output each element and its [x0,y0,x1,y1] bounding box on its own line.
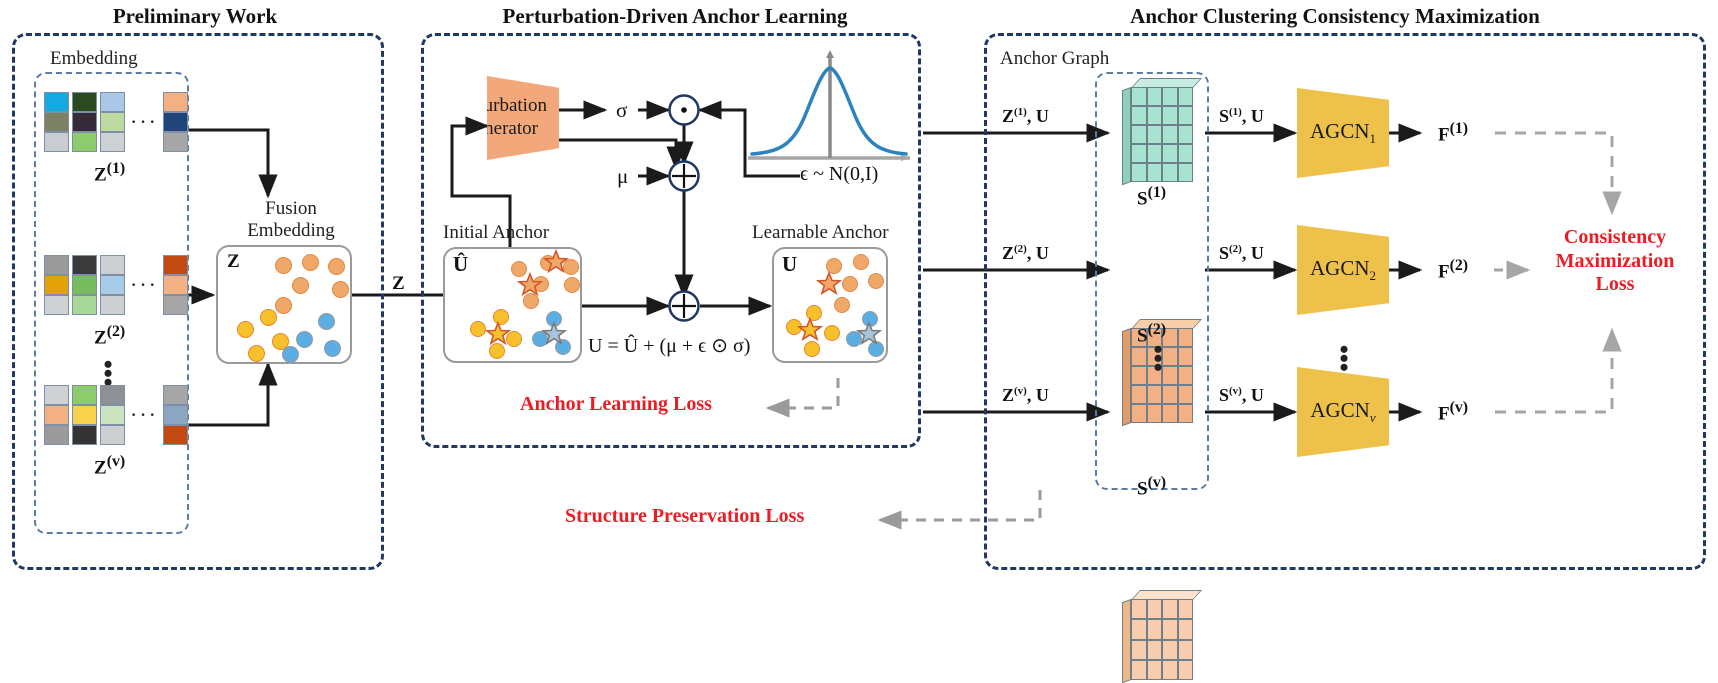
matrix-z2-collast [163,255,188,315]
agcn-block-1: AGCN1 [1297,88,1389,178]
agcn-2-label: AGCN [1310,256,1370,280]
panel-title-perturbation: Perturbation-Driven Anchor Learning [425,4,925,29]
initial-anchor-label: Initial Anchor [443,222,549,244]
edge-label-zv-u: Z(v), U [1002,385,1049,406]
matrix-z1-col2 [100,92,125,152]
perturbation-generator-block: Perturbation Generator [487,76,559,160]
matrix-z1-ellipsis: ··· [130,92,158,152]
matrix-z2: ··· [44,255,188,315]
matrix-z1: ··· [44,92,188,152]
embedding-vertical-ellipsis: ••• [96,360,120,387]
anchor-matrix-sv [1122,590,1196,680]
matrix-zv-collast [163,385,188,445]
agcn-2-sub: 2 [1370,268,1377,283]
matrix-zv-col1 [72,385,97,445]
sigma-symbol: σ [616,98,627,123]
matrix-z2-col1 [72,255,97,315]
output-fv: F(v) [1438,399,1468,425]
learnable-anchor-box: U [772,247,888,363]
anchor-star-orange-1 [543,249,569,275]
learnable-star-yellow-1 [797,317,823,343]
edge-label-s1-u: S(1), U [1219,106,1264,127]
learnable-anchor-label: Learnable Anchor [752,222,889,244]
output-f1: F(1) [1438,120,1468,146]
anchor-star-blue-1 [541,321,567,347]
matrix-z2-col0 [44,255,69,315]
edge-label-sv-u: S(v), U [1219,385,1264,406]
matrix-z1-collast [163,92,188,152]
learnable-anchor-tag: U [782,252,797,277]
embedding-group-label: Embedding [50,48,138,70]
fusion-output-tag-z: Z [392,273,405,295]
agcn-block-2: AGCN2 [1297,225,1389,315]
panel-title-preliminary: Preliminary Work [10,4,380,29]
panel-title-clustering: Anchor Clustering Consistency Maximizati… [985,4,1685,29]
agcn-v-sub: v [1370,410,1376,425]
anchor-update-formula: U = Û + (μ + ϵ ⊙ σ) [588,333,750,358]
edge-label-z1-u: Z(1), U [1002,106,1049,127]
anchor-star-orange-2 [517,272,543,298]
fusion-embedding-box: Z [216,245,352,364]
matrix-z1-label: Z(1) [94,160,125,186]
matrix-z2-ellipsis: ··· [130,255,158,315]
consistency-loss-label: Consistency Maximization Loss [1530,226,1700,297]
initial-anchor-box: Û [443,247,582,363]
anchor-matrix-s1 [1122,78,1196,182]
agcn-1-label: AGCN [1310,119,1370,143]
consistency-loss-line1: Consistency [1530,226,1700,250]
matrix-z1-col0 [44,92,69,152]
matrix-z1-col1 [72,92,97,152]
anchor-graph-vertical-ellipsis: ••• [1146,345,1170,372]
edge-label-z2-u: Z(2), U [1002,243,1049,264]
consistency-loss-line2: Maximization [1530,250,1700,274]
agcn-vertical-ellipsis: ••• [1332,345,1356,372]
matrix-zv-label: Z(v) [94,453,125,479]
anchor-graph-label: Anchor Graph [1000,48,1109,70]
fusion-label-line2: Embedding [206,220,376,242]
consistency-loss-line3: Loss [1530,273,1700,297]
matrix-zv-ellipsis: ··· [130,385,158,445]
matrix-zv-col2 [100,385,125,445]
anchor-learning-loss-label: Anchor Learning Loss [520,393,712,417]
matrix-z2-col2 [100,255,125,315]
matrix-zv-col0 [44,385,69,445]
learnable-star-blue-1 [856,321,882,347]
learnable-star-orange-1 [816,271,842,297]
fusion-tag: Z [227,251,240,273]
output-f2: F(2) [1438,257,1468,283]
anchor-star-yellow-1 [485,321,511,347]
agcn-v-label: AGCN [1310,398,1370,422]
matrix-z2-label: Z(2) [94,323,125,349]
mu-symbol: μ [617,164,628,189]
agcn-1-sub: 1 [1370,131,1377,146]
matrix-zv: ··· [44,385,188,445]
edge-label-s2-u: S(2), U [1219,243,1264,264]
structure-preservation-loss-label: Structure Preservation Loss [565,505,804,529]
agcn-block-v: AGCNv [1297,367,1389,457]
fusion-label-line1: Fusion [226,198,356,220]
noise-distribution-label: ϵ ~ N(0,I) [800,163,878,186]
anchor-matrix-s1-label: S(1) [1137,184,1166,210]
anchor-matrix-sv-label: S(v) [1137,474,1166,500]
initial-anchor-tag: Û [453,252,468,277]
